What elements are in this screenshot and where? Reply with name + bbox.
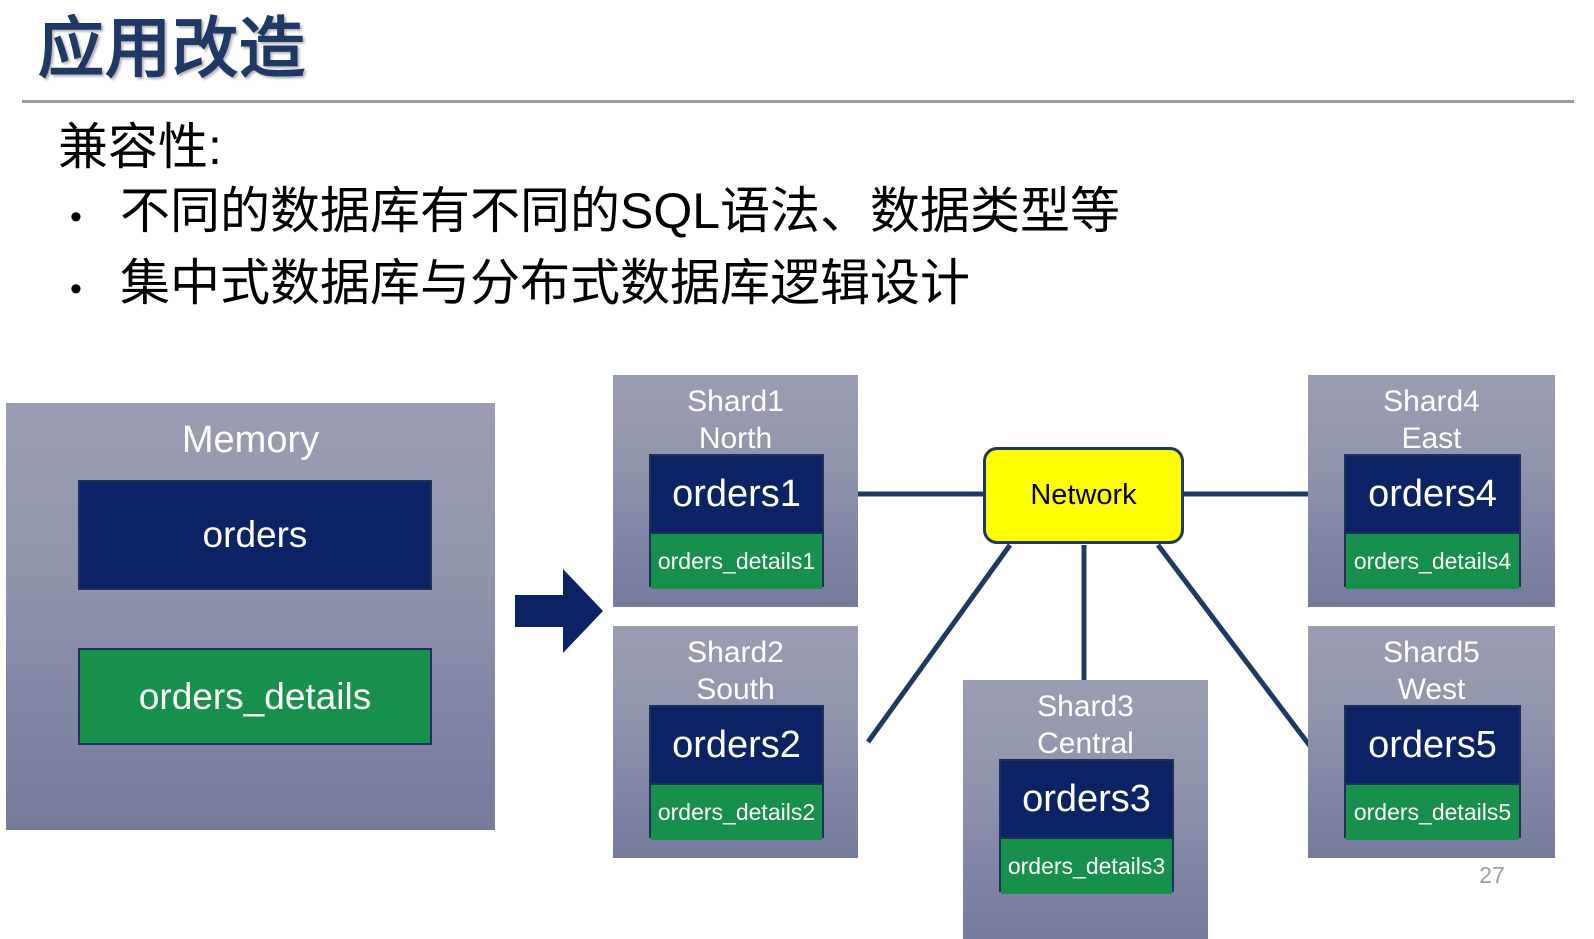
shard-tables-group: orders4 orders_details4 (1344, 454, 1521, 587)
memory-table-orders-details: orders_details (78, 648, 432, 745)
shard-table-orders: orders1 (651, 456, 822, 532)
shard-panel-shard2: Shard2 South orders2 orders_details2 (613, 626, 858, 858)
shard-table-orders-details: orders_details2 (651, 783, 822, 840)
shard-panel-shard4: Shard4 East orders4 orders_details4 (1308, 375, 1555, 607)
shard-table-orders-details: orders_details1 (651, 532, 822, 589)
shard-tables-group: orders3 orders_details3 (999, 759, 1174, 892)
memory-panel-title: Memory (6, 418, 495, 462)
shard-table-orders-details: orders_details3 (1001, 837, 1172, 894)
shard-table-orders-details: orders_details4 (1346, 532, 1519, 589)
shard-panel-shard3: Shard3 Central orders3 orders_details3 (963, 680, 1208, 939)
memory-panel: Memory orders orders_details (6, 403, 495, 830)
shard-panel-shard1: Shard1 North orders1 orders_details1 (613, 375, 858, 607)
shard-panel-title: Shard3 Central (963, 680, 1208, 762)
shard-panel-shard5: Shard5 West orders5 orders_details5 (1308, 626, 1555, 858)
shard-table-orders: orders2 (651, 707, 822, 783)
shard-panel-title: Shard2 South (613, 626, 858, 708)
shard-tables-group: orders2 orders_details2 (649, 705, 824, 838)
page-number: 27 (1472, 862, 1512, 889)
right-arrow-icon (515, 569, 603, 653)
network-node: Network (983, 447, 1184, 544)
shard-panel-title: Shard5 West (1308, 626, 1555, 708)
shard-table-orders: orders4 (1346, 456, 1519, 532)
memory-table-orders: orders (78, 480, 432, 590)
shard-tables-group: orders1 orders_details1 (649, 454, 824, 587)
shard-tables-group: orders5 orders_details5 (1344, 705, 1521, 838)
shard-table-orders-details: orders_details5 (1346, 783, 1519, 840)
architecture-diagram: Memory orders orders_details Shard1 Nort… (0, 0, 1594, 939)
shard-table-orders: orders5 (1346, 707, 1519, 783)
shard-panel-title: Shard1 North (613, 375, 858, 457)
shard-table-orders: orders3 (1001, 761, 1172, 837)
shard-panel-title: Shard4 East (1308, 375, 1555, 457)
